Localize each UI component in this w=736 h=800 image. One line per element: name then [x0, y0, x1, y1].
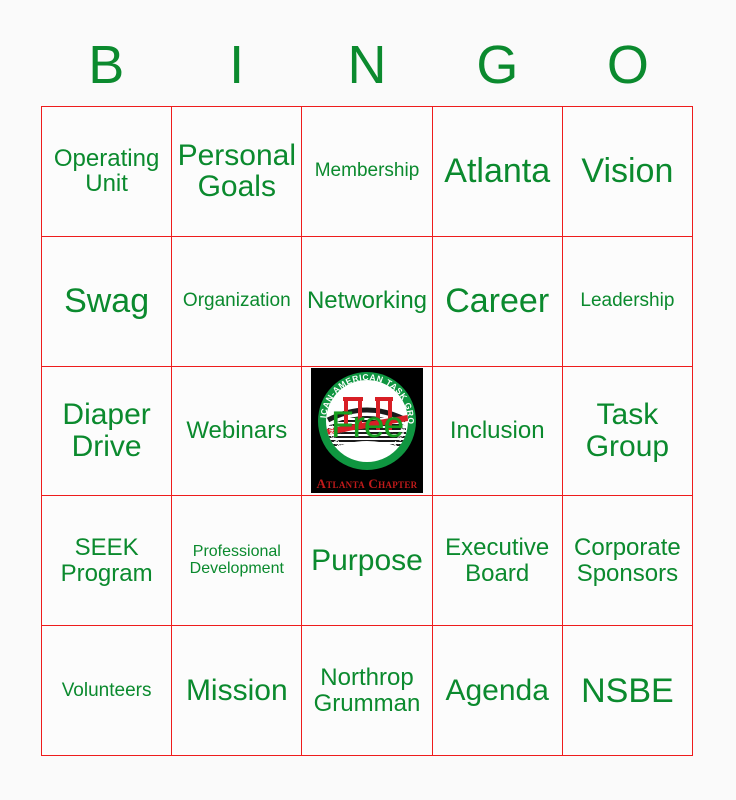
- bingo-cell-label: Northrop Grumman: [305, 665, 428, 716]
- bingo-cell-personal-goals[interactable]: Personal Goals: [172, 107, 302, 237]
- bingo-cell-organization[interactable]: Organization: [172, 237, 302, 367]
- bingo-grid: Operating UnitPersonal GoalsMembershipAt…: [41, 106, 693, 756]
- bingo-cell-label: SEEK Program: [45, 535, 168, 586]
- bingo-cell-volunteers[interactable]: Volunteers: [42, 626, 172, 756]
- bingo-cell-label: Agenda: [436, 675, 559, 707]
- bingo-cell-networking[interactable]: Networking: [302, 237, 432, 367]
- bingo-cell-label: Executive Board: [436, 535, 559, 586]
- logo-chapter-label: Atlanta Chapter: [311, 477, 423, 490]
- bingo-cell-label: Inclusion: [436, 418, 559, 443]
- free-space-logo: AFRICAN-AMERICAN TASK GROUPBRIDGING RESO…: [311, 368, 423, 493]
- bingo-cell-diaper-drive[interactable]: Diaper Drive: [42, 367, 172, 497]
- bingo-cell-task-group[interactable]: Task Group: [563, 367, 693, 497]
- bingo-cell-nsbe[interactable]: NSBE: [563, 626, 693, 756]
- bingo-cell-label: Task Group: [566, 399, 689, 463]
- bingo-cell-label: Vision: [566, 153, 689, 189]
- free-space-label: Free: [311, 406, 423, 443]
- header-letter-n: N: [302, 30, 432, 100]
- bingo-cell-operating-unit[interactable]: Operating Unit: [42, 107, 172, 237]
- bingo-cell-label: NSBE: [566, 673, 689, 709]
- bingo-cell-atlanta[interactable]: Atlanta: [433, 107, 563, 237]
- bingo-card: B I N G O Operating UnitPersonal GoalsMe…: [0, 0, 736, 800]
- bingo-cell-inclusion[interactable]: Inclusion: [433, 367, 563, 497]
- bingo-cell-label: Membership: [305, 161, 428, 181]
- bingo-cell-label: Webinars: [175, 418, 298, 443]
- header-letter-b: B: [41, 30, 171, 100]
- header-letter-i: I: [171, 30, 301, 100]
- bingo-cell-label: Operating Unit: [45, 146, 168, 197]
- bingo-cell-professional-development[interactable]: Professional Development: [172, 496, 302, 626]
- bingo-cell-career[interactable]: Career: [433, 237, 563, 367]
- bingo-cell-executive-board[interactable]: Executive Board: [433, 496, 563, 626]
- bingo-cell-leadership[interactable]: Leadership: [563, 237, 693, 367]
- header-letter-o: O: [563, 30, 693, 100]
- bingo-cell-label: Networking: [305, 288, 428, 313]
- bingo-cell-webinars[interactable]: Webinars: [172, 367, 302, 497]
- bingo-cell-corporate-sponsors[interactable]: Corporate Sponsors: [563, 496, 693, 626]
- bingo-cell-northrop-grumman[interactable]: Northrop Grumman: [302, 626, 432, 756]
- bingo-cell-label: Professional Development: [175, 544, 298, 578]
- bingo-cell-label: Mission: [175, 675, 298, 707]
- bingo-header: B I N G O: [41, 30, 693, 100]
- bingo-cell-seek-program[interactable]: SEEK Program: [42, 496, 172, 626]
- bingo-cell-vision[interactable]: Vision: [563, 107, 693, 237]
- bingo-cell-label: Personal Goals: [175, 140, 298, 204]
- bingo-cell-label: Purpose: [305, 545, 428, 577]
- bingo-cell-mission[interactable]: Mission: [172, 626, 302, 756]
- bingo-cell-membership[interactable]: Membership: [302, 107, 432, 237]
- bingo-cell-label: Career: [436, 283, 559, 319]
- bingo-cell-label: Organization: [175, 291, 298, 311]
- bingo-cell-agenda[interactable]: Agenda: [433, 626, 563, 756]
- bingo-cell-label: Leadership: [566, 291, 689, 311]
- bingo-cell-label: Diaper Drive: [45, 399, 168, 463]
- bingo-cell-label: Volunteers: [45, 681, 168, 701]
- bingo-cell-label: Corporate Sponsors: [566, 535, 689, 586]
- bingo-cell-swag[interactable]: Swag: [42, 237, 172, 367]
- bingo-cell-label: Swag: [45, 283, 168, 319]
- header-letter-g: G: [432, 30, 562, 100]
- bingo-cell-label: Atlanta: [436, 153, 559, 189]
- bingo-cell-free-space[interactable]: AFRICAN-AMERICAN TASK GROUPBRIDGING RESO…: [302, 367, 432, 497]
- bingo-cell-purpose[interactable]: Purpose: [302, 496, 432, 626]
